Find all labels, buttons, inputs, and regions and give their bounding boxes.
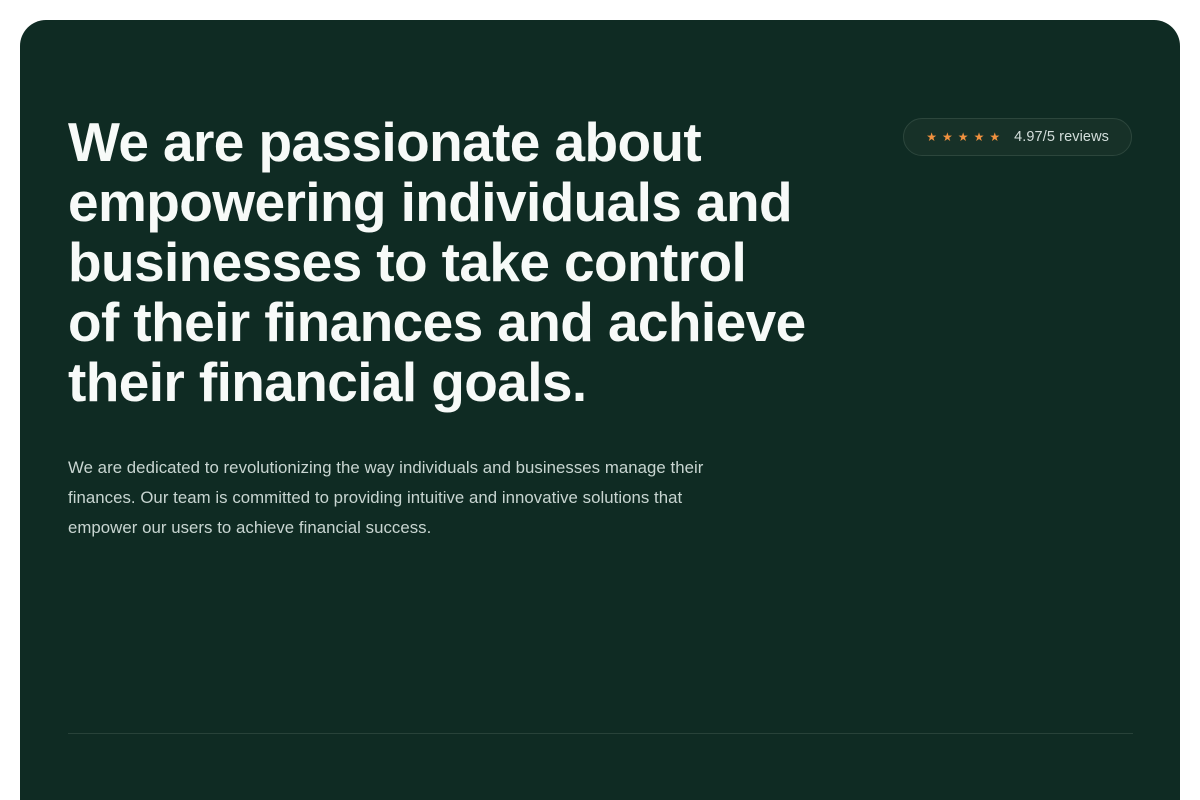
rating-label: 4.97/5 reviews — [1014, 129, 1109, 145]
rating-badge[interactable]: ★ ★ ★ ★ ★ 4.97/5 reviews — [903, 118, 1132, 156]
hero-description: We are dedicated to revolutionizing the … — [68, 412, 748, 542]
star-icon: ★ — [958, 131, 969, 143]
star-icon: ★ — [926, 131, 937, 143]
page-root: ★ ★ ★ ★ ★ 4.97/5 reviews We are passiona… — [0, 0, 1200, 800]
star-icon: ★ — [974, 131, 985, 143]
star-icon: ★ — [942, 131, 953, 143]
star-rating: ★ ★ ★ ★ ★ — [926, 131, 1000, 143]
star-icon: ★ — [989, 131, 1000, 143]
hero-content: We are passionate about empowering indiv… — [68, 112, 808, 542]
section-divider — [68, 733, 1133, 734]
hero-card: ★ ★ ★ ★ ★ 4.97/5 reviews We are passiona… — [20, 20, 1180, 800]
page-title: We are passionate about empowering indiv… — [68, 112, 808, 412]
